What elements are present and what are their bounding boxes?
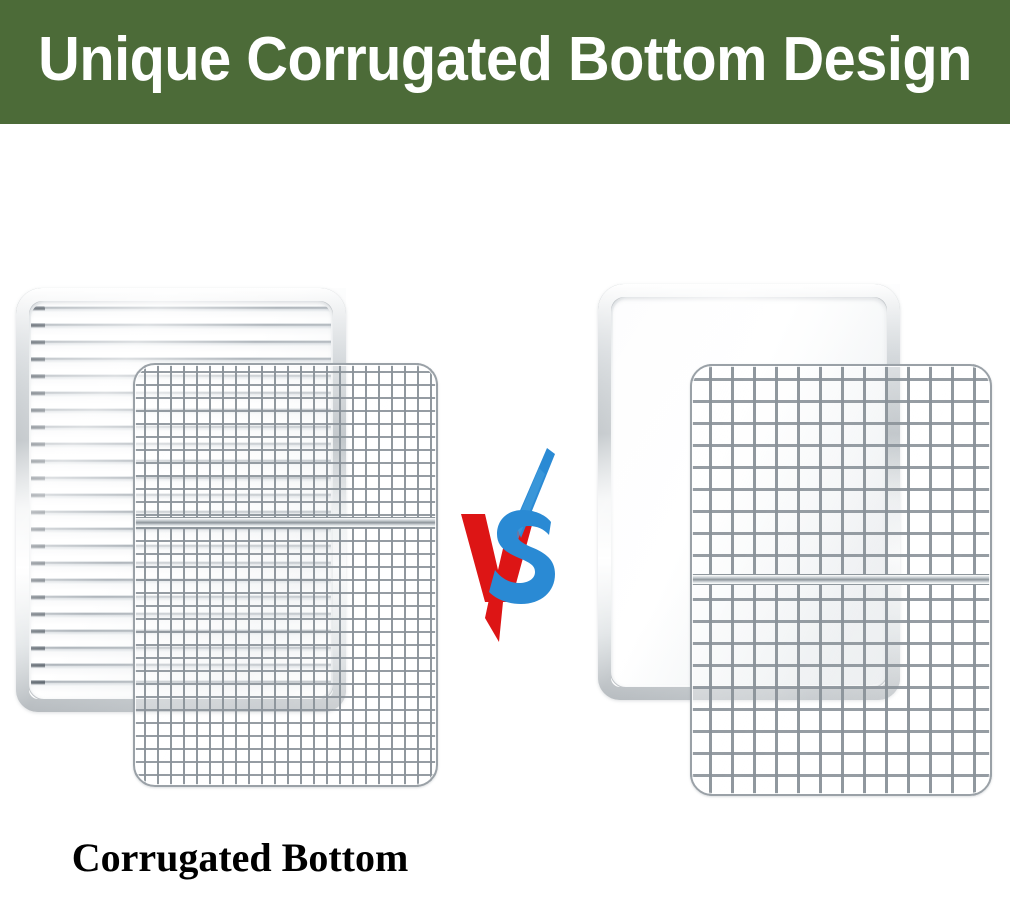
caption-corrugated-bottom: Corrugated Bottom xyxy=(0,836,480,880)
rack-outer-frame xyxy=(690,364,992,796)
header-banner: Unique Corrugated Bottom Design xyxy=(0,0,1010,124)
product-group-smooth: Smooth Bottom xyxy=(540,124,1010,900)
product-group-corrugated: Corrugated Bottom xyxy=(0,124,470,900)
product-comparison-stage: Corrugated Bottom xyxy=(0,124,1010,900)
page-title: Unique Corrugated Bottom Design xyxy=(38,29,972,95)
rack-outer-frame xyxy=(133,363,438,787)
wide-mesh-cooling-rack xyxy=(690,364,992,796)
fine-mesh-cooling-rack xyxy=(133,363,438,787)
